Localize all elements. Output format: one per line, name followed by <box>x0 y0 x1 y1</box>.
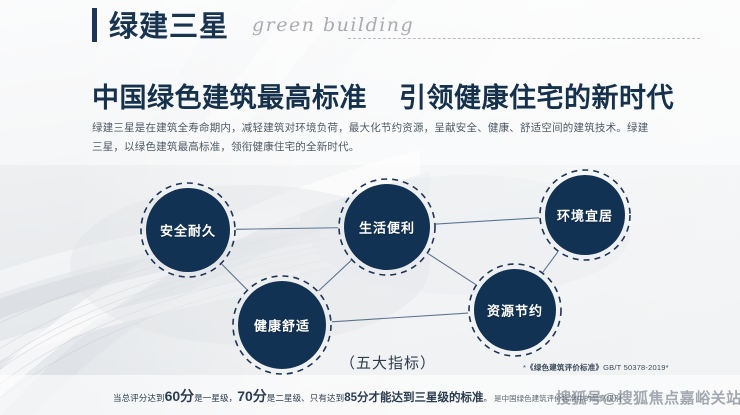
watermark: 搜狐号@搜狐焦点嘉峪关站 <box>556 387 740 408</box>
footer-score1: 60分 <box>165 386 195 406</box>
headline-part2: 引领健康住宅的新时代 <box>399 83 674 113</box>
footer-seg4: 。 <box>483 392 492 404</box>
diagram-link-living-resource <box>428 254 475 285</box>
footer-seg1: 当总评分达到 <box>113 392 165 404</box>
footer-score3: 85分才能达到三星级的标准 <box>344 389 483 405</box>
node-label-safety: 安全耐久 <box>160 221 216 240</box>
footer-score2: 70分 <box>237 386 267 406</box>
page-title: 中国绿色建筑最高标准 引领健康住宅的新时代 <box>92 76 674 115</box>
diagram-link-living-health <box>319 260 352 290</box>
diagram-link-health-resource <box>332 313 468 322</box>
header: 绿建三星 <box>92 8 229 42</box>
diagram-nodes <box>141 170 630 374</box>
indicator-network-diagram <box>0 160 740 375</box>
intro-paragraph: 绿建三星是在建筑全寿命期内，减轻建筑对环境负荷，最大化节约资源，呈献安全、健康、… <box>92 119 658 157</box>
node-label-living: 生活便利 <box>359 218 415 237</box>
header-dashed-rule <box>348 38 700 39</box>
footer-seg2: 是一星级， <box>194 392 237 404</box>
header-title: 绿建三星 <box>109 13 229 42</box>
node-label-environ: 环境宜居 <box>557 206 613 225</box>
header-script-text: green building <box>252 14 414 36</box>
headline-part1: 中国绿色建筑最高标准 <box>92 83 367 113</box>
diagram-link-living-environ <box>436 218 539 224</box>
node-label-health: 健康舒适 <box>254 316 310 335</box>
score-footer: 当总评分达到 60分 是一星级， 70分 是二星级、只有达到 85分才能达到三星… <box>113 386 622 406</box>
diagram-link-environ-resource <box>543 252 558 272</box>
footer-seg3: 是二星级、只有达到 <box>267 392 344 404</box>
node-label-resource: 资源节约 <box>487 301 543 320</box>
standard-reference: *《绿色建筑评价标准》GB/T 50378-2019* <box>523 362 669 373</box>
header-accent-bar <box>92 8 99 42</box>
diagram-link-safety-health <box>222 264 247 289</box>
diagram-link-safety-living <box>236 228 338 230</box>
standard-ref-code: GB/T 50378-2019* <box>603 363 669 372</box>
five-indicators-caption: （五大指标） <box>340 352 436 373</box>
standard-ref-name: 《绿色建筑评价标准》 <box>526 363 603 372</box>
